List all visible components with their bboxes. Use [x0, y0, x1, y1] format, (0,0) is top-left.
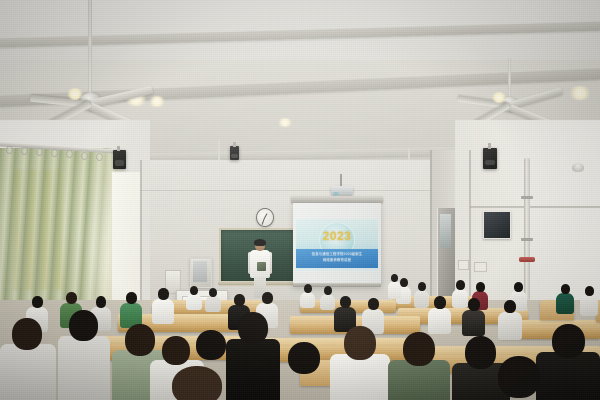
- student-head: [465, 336, 496, 369]
- student-head: [418, 282, 426, 291]
- projection-screen: 2023 信息与通信工程学院2023级新生 网络素养教育讲座: [293, 203, 381, 286]
- curtain-ring: [51, 149, 58, 157]
- wall-switch-plate[interactable]: [458, 260, 469, 270]
- student-torso: [205, 296, 221, 312]
- student-head: [514, 282, 523, 292]
- student-head: [158, 288, 169, 300]
- screen-housing: [291, 196, 383, 203]
- student: [226, 312, 280, 400]
- slide-title-line-2: 网络素养教育讲座: [296, 258, 378, 262]
- student-torso: [0, 344, 56, 400]
- student-head: [340, 296, 351, 308]
- student-torso: [300, 292, 315, 308]
- student-torso: [388, 281, 401, 299]
- student-head: [498, 356, 540, 398]
- slide-title-line-1: 信息与通信工程学院2023级新生: [296, 252, 378, 256]
- curtain-ring: [66, 150, 73, 158]
- speaker-bracket: [488, 143, 491, 149]
- curtain-ring: [36, 148, 43, 156]
- student-head: [190, 286, 198, 295]
- student-head: [391, 274, 398, 282]
- student: [120, 292, 142, 326]
- right-wall-window: [483, 211, 511, 239]
- student: [580, 286, 598, 314]
- student: [388, 332, 450, 400]
- student-head: [324, 286, 332, 295]
- student-head: [403, 332, 435, 366]
- student-head: [552, 324, 585, 358]
- student: [152, 288, 174, 322]
- wall-seam: [140, 160, 142, 310]
- wall-clock: [256, 208, 274, 227]
- student-torso: [186, 294, 202, 310]
- student-head: [66, 292, 77, 304]
- ceiling-light: [277, 118, 293, 127]
- student-torso: [152, 299, 174, 324]
- student: [0, 318, 56, 400]
- door-glass-panel: [440, 214, 451, 248]
- student-head: [196, 330, 226, 360]
- fan-rod: [508, 58, 511, 100]
- wall-pipe: [524, 158, 530, 300]
- student: [172, 366, 226, 400]
- student-head: [344, 326, 376, 360]
- student-torso: [462, 310, 485, 336]
- speaker-bracket: [233, 142, 236, 147]
- student: [330, 326, 390, 400]
- student-head: [234, 294, 245, 306]
- student-torso: [556, 293, 574, 314]
- student-torso: [320, 294, 335, 310]
- curtain-ring: [21, 147, 28, 155]
- student-torso: [388, 360, 450, 400]
- presenter-held-item: [257, 262, 266, 271]
- curtain-ring: [81, 152, 88, 160]
- wall-speaker: [113, 150, 126, 169]
- student: [288, 342, 324, 374]
- student-torso: [536, 352, 600, 400]
- student-head: [400, 278, 408, 287]
- student-head: [468, 298, 480, 311]
- presenter: [248, 240, 272, 298]
- wall-seam: [140, 190, 432, 191]
- student-head: [476, 282, 485, 292]
- wall-seam: [470, 206, 600, 208]
- student: [462, 298, 485, 334]
- fan-light: [492, 92, 506, 103]
- student-head: [69, 310, 98, 341]
- student-head: [456, 280, 465, 290]
- student-torso: [330, 354, 390, 400]
- student: [498, 300, 522, 338]
- pipe-clamp: [521, 196, 533, 199]
- wall-seam: [430, 150, 432, 310]
- presentation-slide: 2023 信息与通信工程学院2023级新生 网络素养教育讲座: [296, 219, 378, 271]
- student-head: [126, 292, 137, 304]
- pipe-valve: [519, 257, 535, 262]
- podium-monitor-screen: [193, 261, 207, 282]
- student-torso: [414, 290, 429, 308]
- student-torso: [580, 295, 598, 316]
- student: [196, 330, 230, 360]
- student: [205, 288, 221, 310]
- fan-light: [67, 88, 83, 100]
- student-head: [561, 284, 570, 294]
- classroom-photo: 2023 信息与通信工程学院2023级新生 网络素养教育讲座 speaker a…: [0, 0, 600, 400]
- student: [414, 282, 429, 306]
- student-head: [585, 286, 594, 296]
- wall-lamp: [572, 163, 584, 172]
- presenter-hair: [254, 239, 266, 246]
- student: [388, 274, 401, 298]
- wall-speaker: [483, 148, 497, 169]
- student-head: [368, 298, 379, 310]
- student-torso: [428, 308, 451, 334]
- curtain-ring: [96, 153, 103, 161]
- curtain-ring: [6, 146, 13, 154]
- fan-rod: [88, 0, 92, 96]
- pipe-clamp: [521, 238, 533, 241]
- student-head: [12, 318, 42, 350]
- student: [186, 286, 202, 308]
- student-head: [304, 284, 312, 293]
- student-head: [32, 296, 43, 308]
- student-head: [288, 342, 320, 374]
- student-torso: [226, 339, 280, 400]
- student: [428, 296, 451, 332]
- ceiling-fan: [60, 0, 180, 130]
- clock-minute-hand: [262, 218, 265, 225]
- student-head: [96, 296, 106, 308]
- student-torso: [58, 336, 110, 400]
- slide-year-label: 2023: [296, 229, 378, 243]
- wall-speaker: [230, 146, 239, 160]
- bright-doorway: [112, 172, 140, 312]
- student: [58, 310, 110, 400]
- student-head: [172, 366, 222, 400]
- student-head: [209, 288, 217, 297]
- student-head: [238, 312, 268, 344]
- student: [300, 284, 315, 306]
- student: [320, 286, 335, 308]
- student-head: [262, 292, 273, 304]
- student: [334, 296, 356, 330]
- student-head: [162, 336, 190, 365]
- wall-switch-plate[interactable]: [474, 262, 487, 272]
- wall-seam: [469, 150, 471, 305]
- student-head: [434, 296, 446, 309]
- student-head: [504, 300, 516, 313]
- student: [498, 356, 542, 400]
- student: [536, 324, 600, 400]
- student: [556, 284, 574, 312]
- speaker-bracket: [117, 146, 120, 151]
